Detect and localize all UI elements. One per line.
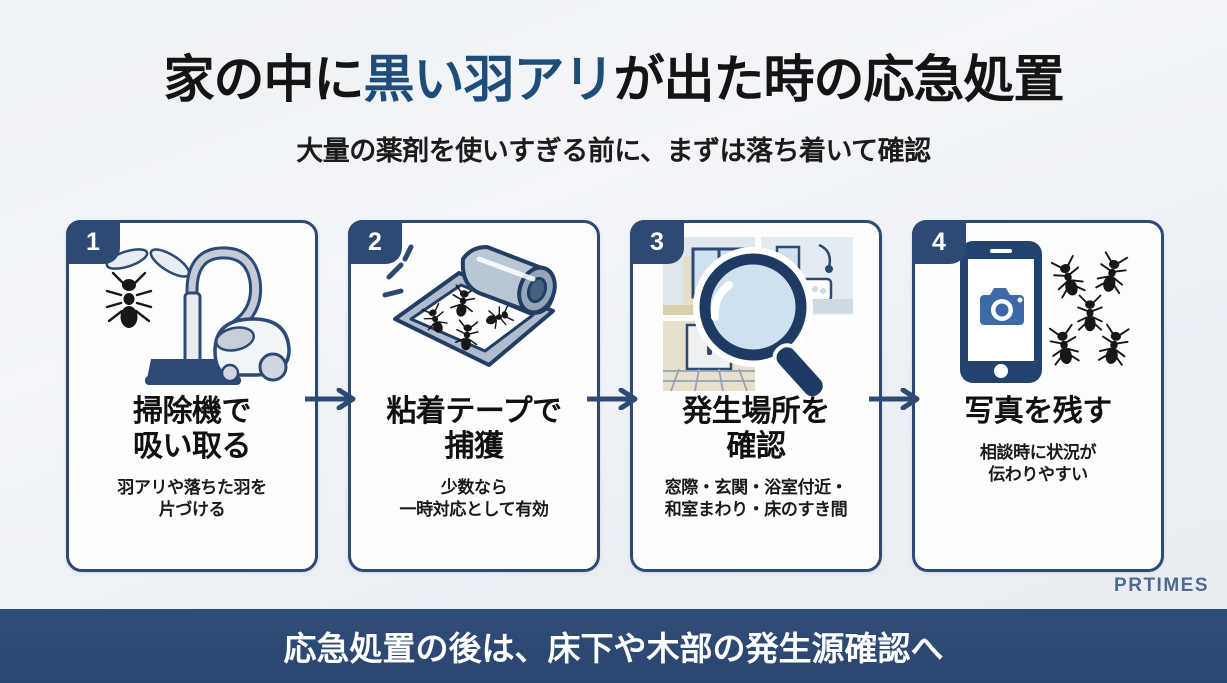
step-desc-2-line2: 一時対応として有効 [400,499,549,522]
step-desc-4: 相談時に状況が 伝わりやすい [974,442,1102,487]
step-desc-2-line1: 少数なら [400,477,549,500]
step-desc-3: 窓際・玄関・浴室付近・ 和室まわり・床のすき間 [659,477,854,522]
arrow-card2-to-card3-icon [587,388,643,410]
step-number-badge-1: 1 [66,220,120,264]
title-text-pre: 家の中に [163,51,363,108]
step-card-4: 4 [912,220,1164,572]
step-title-1-line1: 掃除機で [133,395,251,430]
page-subtitle: 大量の薬剤を使いすぎる前に、まずは落ち着いて確認 [0,129,1227,168]
step-card-2: 2 [348,220,600,572]
page-title: 家の中に黒い羽アリが出た時の応急処置 [0,52,1227,107]
footer-banner-text: 応急処置の後は、床下や木部の発生源確認へ [284,622,944,670]
step-number-badge-2: 2 [348,220,402,264]
step-title-3-line1: 発生場所を [682,395,830,430]
step-desc-2: 少数なら 一時対応として有効 [394,477,555,522]
footer-banner: 応急処置の後は、床下や木部の発生源確認へ [0,609,1227,683]
header: 家の中に黒い羽アリが出た時の応急処置 大量の薬剤を使いすぎる前に、まずは落ち着い… [0,0,1227,168]
step-number-badge-4: 4 [912,220,966,264]
step-card-1: 1 [66,220,318,572]
arrow-card1-to-card2-icon [305,388,361,410]
title-text-post: が出た時の応急処置 [614,51,1064,108]
step-number-badge-3: 3 [630,220,684,264]
step-desc-4-line1: 相談時に状況が [980,442,1096,465]
step-desc-3-line1: 窓際・玄関・浴室付近・ [665,477,848,500]
step-title-3: 発生場所を 確認 [676,395,836,465]
step-title-1: 掃除機で 吸い取る [127,395,257,465]
arrow-card3-to-card4-icon [869,388,925,410]
step-desc-1-line2: 片づける [117,499,266,522]
step-desc-1-line1: 羽アリや落ちた羽を [117,477,266,500]
step-desc-3-line2: 和室まわり・床のすき間 [665,499,848,522]
step-title-2-line2: 捕獲 [386,430,561,465]
prtimes-watermark: PRTIMES [1114,575,1209,597]
step-desc-1: 羽アリや落ちた羽を 片づける [111,477,272,522]
step-title-4: 写真を残す [958,395,1118,430]
step-desc-4-line2: 伝わりやすい [980,464,1096,487]
step-title-1-line2: 吸い取る [133,430,251,465]
step-title-3-line2: 確認 [682,430,830,465]
step-title-4-line1: 写真を残す [964,395,1112,430]
step-title-2: 粘着テープで 捕獲 [380,395,567,465]
step-title-2-line1: 粘着テープで [386,395,561,430]
title-text-highlight: 黒い羽アリ [363,51,613,108]
step-card-3: 3 [630,220,882,572]
